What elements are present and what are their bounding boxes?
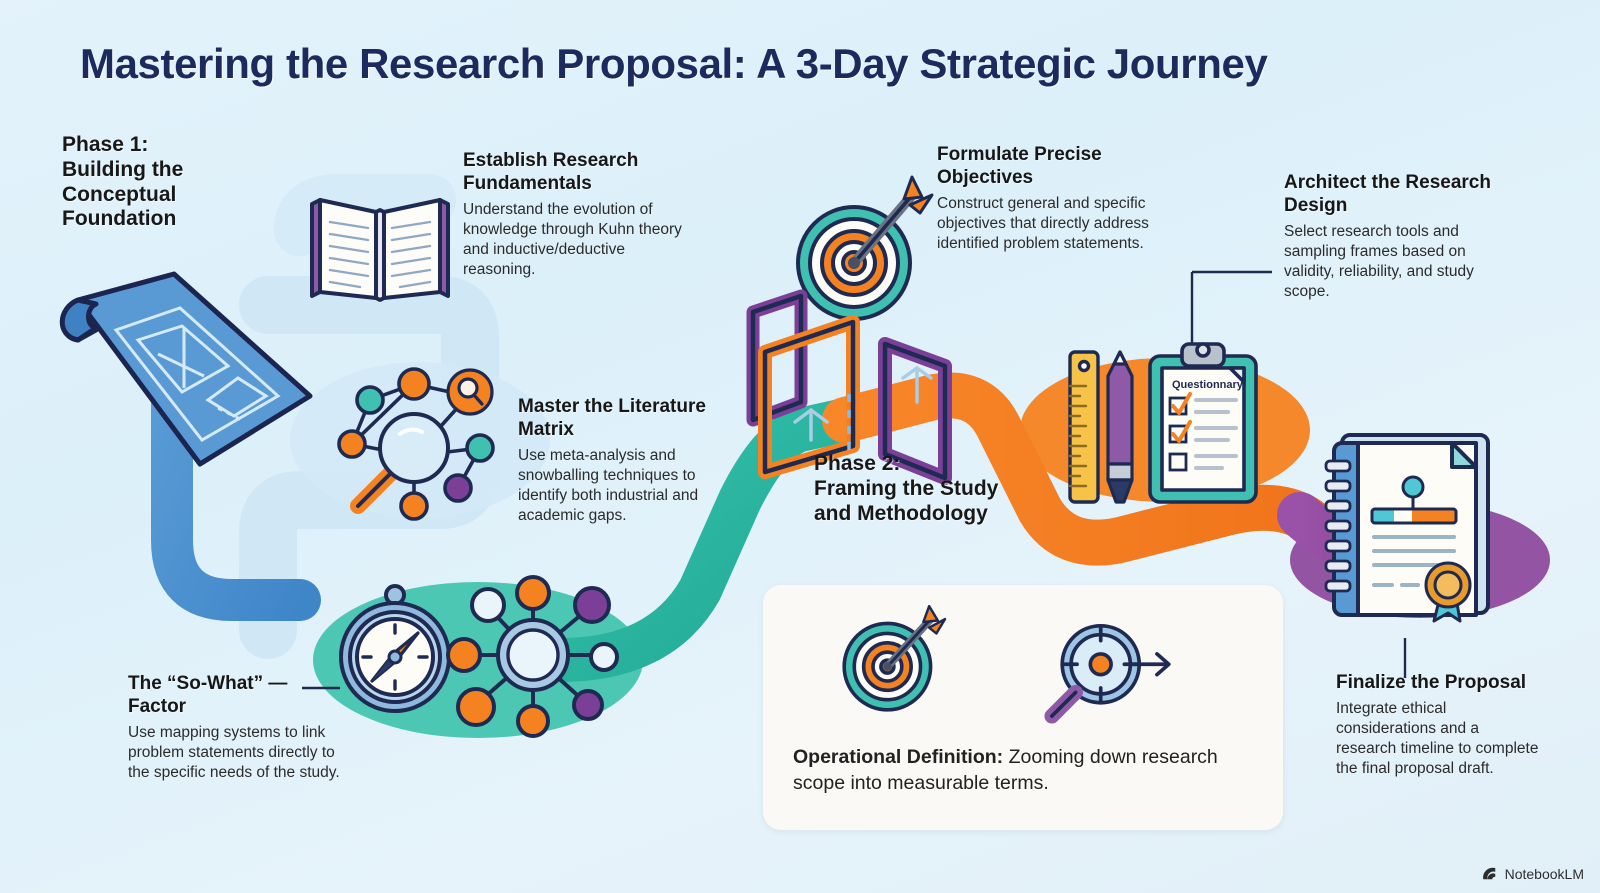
literature-network-magnifier-icon [318,352,508,532]
operational-definition-callout: Operational Definition: Zooming down res… [763,585,1283,830]
block-heading: Finalize the Proposal [1336,672,1541,695]
block-heading: The “So-What” — Factor [128,673,343,719]
block-so-what-factor: The “So-What” — Factor Use mapping syste… [128,673,343,783]
block-master-the-literature-matrix: Master the Literature Matrix Use meta-an… [518,396,730,526]
block-finalize-the-proposal: Finalize the Proposal Integrate ethical … [1336,672,1541,779]
watermark-label: NotebookLM [1505,866,1584,882]
final-proposal-document-icon [1312,425,1512,625]
callout-icon-row [763,603,1283,733]
clipboard-form-title: Questionnary [1172,379,1244,391]
block-architect-the-research-design: Architect the Research Design Select res… [1284,172,1496,302]
block-body: Construct general and specific objective… [937,194,1152,254]
questionnaire-clipboard-icon: Questionnary [1050,338,1265,513]
block-body: Understand the evolution of knowledge th… [463,200,693,281]
block-heading: Establish Research Fundamentals [463,150,693,196]
block-body: Use meta-analysis and snowballing techni… [518,446,730,527]
phase-1-text: Phase 1: Building the Conceptual Foundat… [62,133,302,232]
block-heading: Master the Literature Matrix [518,396,730,442]
block-establish-research-fundamentals: Establish Research Fundamentals Understa… [463,150,693,280]
callout-term: Operational Definition: [793,746,1003,768]
block-heading: Formulate Precise Objectives [937,144,1152,190]
infographic-canvas: Questionnary [0,0,1600,893]
notebooklm-watermark: NotebookLM [1481,865,1584,883]
open-book-icon [300,188,460,308]
notebooklm-spiral-icon [1481,865,1499,883]
block-heading: Architect the Research Design [1284,172,1496,218]
blueprint-scroll-icon [52,268,320,488]
block-body: Select research tools and sampling frame… [1284,222,1496,303]
page-title: Mastering the Research Proposal: A 3-Day… [80,40,1530,88]
magnifier-arrow-icon [1052,626,1169,716]
phase-1-label: Phase 1: Building the Conceptual Foundat… [62,133,302,232]
hub-network-icon [438,565,628,745]
block-body: Integrate ethical considerations and a r… [1336,699,1541,780]
block-formulate-precise-objectives: Formulate Precise Objectives Construct g… [937,144,1152,254]
phase-2-text: Phase 2: Framing the Study and Methodolo… [814,452,1074,526]
phase-2-label: Phase 2: Framing the Study and Methodolo… [814,452,1074,526]
target-arrow-icon [844,606,945,710]
callout-text: Operational Definition: Zooming down res… [793,745,1258,796]
block-body: Use mapping systems to link problem stat… [128,723,343,783]
